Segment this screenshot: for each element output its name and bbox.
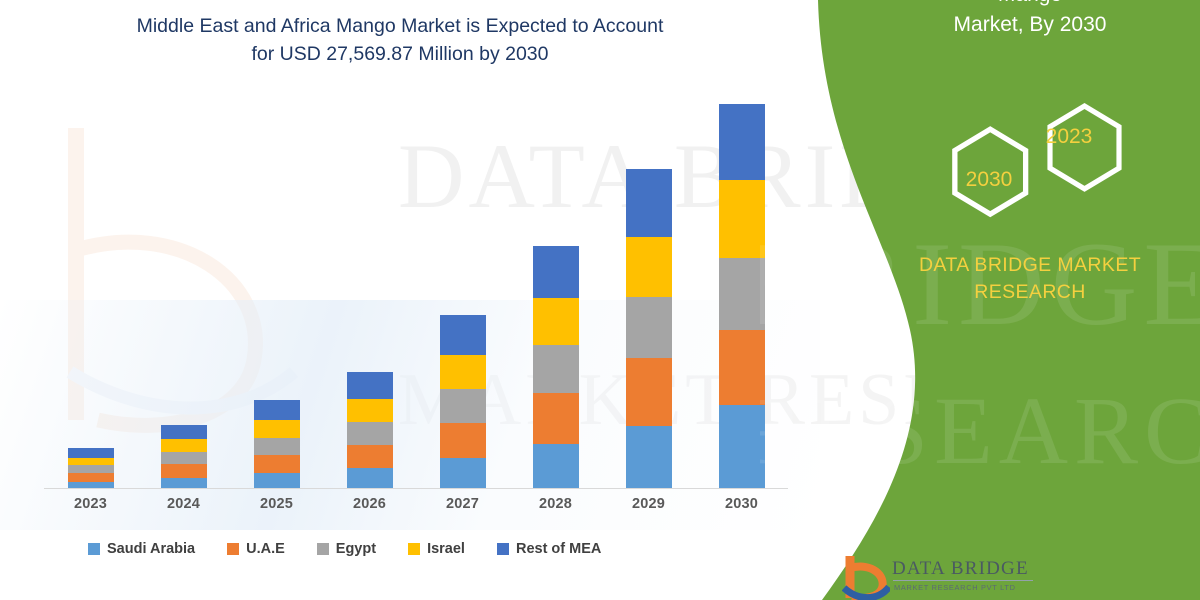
stacked-bar[interactable] [347,372,393,488]
bar-segment-saudi-arabia[interactable] [254,473,300,488]
bar-segment-u-a-e[interactable] [440,423,486,458]
legend-label: Egypt [336,541,376,557]
legend-label: Saudi Arabia [107,541,195,557]
legend-item[interactable]: U.A.E [227,541,285,557]
legend-swatch [227,543,239,555]
bar-segment-rest-of-mea[interactable] [533,246,579,298]
bar-segment-egypt[interactable] [626,297,672,358]
bar-segment-rest-of-mea[interactable] [68,448,114,457]
bar-segment-saudi-arabia[interactable] [719,405,765,488]
x-axis-label: 2028 [513,496,599,512]
bar-segment-rest-of-mea[interactable] [719,104,765,180]
stacked-bar[interactable] [626,169,672,488]
legend-swatch [317,543,329,555]
bar-segment-u-a-e[interactable] [347,445,393,469]
bar-segment-israel[interactable] [719,180,765,258]
bar-segment-u-a-e[interactable] [626,358,672,426]
bar-segment-israel[interactable] [347,399,393,422]
legend-swatch [408,543,420,555]
bar-group[interactable] [347,372,393,488]
logo-divider [893,580,1033,581]
legend-item[interactable]: Israel [408,541,465,557]
bar-segment-egypt[interactable] [347,422,393,445]
logo-subtitle: MARKET RESEARCH PVT LTD [894,583,1016,592]
bar-segment-rest-of-mea[interactable] [440,315,486,355]
x-axis-line [44,488,788,489]
bar-segment-u-a-e[interactable] [533,393,579,444]
legend-swatch [88,543,100,555]
x-axis-label: 2029 [606,496,692,512]
x-axis-label: 2025 [234,496,320,512]
x-axis-label: 2027 [420,496,506,512]
stacked-bar-chart [44,96,788,488]
chart-legend: Saudi ArabiaU.A.EEgyptIsraelRest of MEA [88,541,633,557]
data-bridge-logo: DATA BRIDGE MARKET RESEARCH PVT LTD [840,552,1090,600]
x-axis-label: 2026 [327,496,413,512]
bar-segment-rest-of-mea[interactable] [161,425,207,440]
bar-segment-egypt[interactable] [719,258,765,330]
legend-swatch [497,543,509,555]
x-axis-labels: 20232024202520262027202820292030 [44,496,788,522]
bar-group[interactable] [254,400,300,488]
stacked-bar[interactable] [161,425,207,488]
bar-segment-israel[interactable] [626,237,672,297]
bar-segment-saudi-arabia[interactable] [347,468,393,488]
bar-segment-u-a-e[interactable] [161,464,207,477]
bar-group[interactable] [719,104,765,488]
bar-segment-u-a-e[interactable] [254,455,300,473]
legend-label: U.A.E [246,541,285,557]
bar-segment-egypt[interactable] [440,389,486,423]
x-axis-label: 2024 [141,496,227,512]
legend-item[interactable]: Egypt [317,541,376,557]
bar-segment-u-a-e[interactable] [68,473,114,481]
bar-segment-saudi-arabia[interactable] [161,478,207,488]
bar-segment-israel[interactable] [254,420,300,438]
bar-segment-israel[interactable] [68,458,114,466]
bar-segment-saudi-arabia[interactable] [440,458,486,488]
bar-segment-israel[interactable] [533,298,579,345]
bar-segment-israel[interactable] [161,439,207,452]
bridge-mark-icon [842,554,890,600]
title-line-2: for USD 27,569.87 Million by 2030 [40,40,760,68]
bar-group[interactable] [533,246,579,488]
stacked-bar[interactable] [68,448,114,488]
bar-segment-saudi-arabia[interactable] [533,444,579,488]
bar-segment-egypt[interactable] [254,438,300,455]
logo-wordmark: DATA BRIDGE [892,558,1029,580]
bar-segment-saudi-arabia[interactable] [626,426,672,488]
stacked-bar[interactable] [440,315,486,488]
stacked-bar[interactable] [533,246,579,488]
legend-item[interactable]: Saudi Arabia [88,541,195,557]
stacked-bar[interactable] [254,400,300,488]
bar-segment-rest-of-mea[interactable] [626,169,672,237]
bar-group[interactable] [626,169,672,488]
legend-label: Israel [427,541,465,557]
bar-segment-rest-of-mea[interactable] [254,400,300,421]
bar-group[interactable] [68,448,114,488]
green-side-panel [760,0,1200,600]
bar-segment-egypt[interactable] [533,345,579,393]
legend-item[interactable]: Rest of MEA [497,541,601,557]
legend-label: Rest of MEA [516,541,601,557]
bar-segment-egypt[interactable] [68,465,114,473]
stacked-bar[interactable] [719,104,765,488]
bar-group[interactable] [440,315,486,488]
page-title: Middle East and Africa Mango Market is E… [40,12,760,68]
bar-segment-u-a-e[interactable] [719,330,765,405]
title-line-1: Middle East and Africa Mango Market is E… [137,15,664,37]
x-axis-label: 2023 [48,496,134,512]
infographic-canvas: DATA BRIDGE MARKET RESEARCH Middle East … [0,0,1200,600]
bar-group[interactable] [161,425,207,488]
bar-segment-rest-of-mea[interactable] [347,372,393,399]
bar-segment-israel[interactable] [440,355,486,389]
bar-segment-egypt[interactable] [161,452,207,464]
